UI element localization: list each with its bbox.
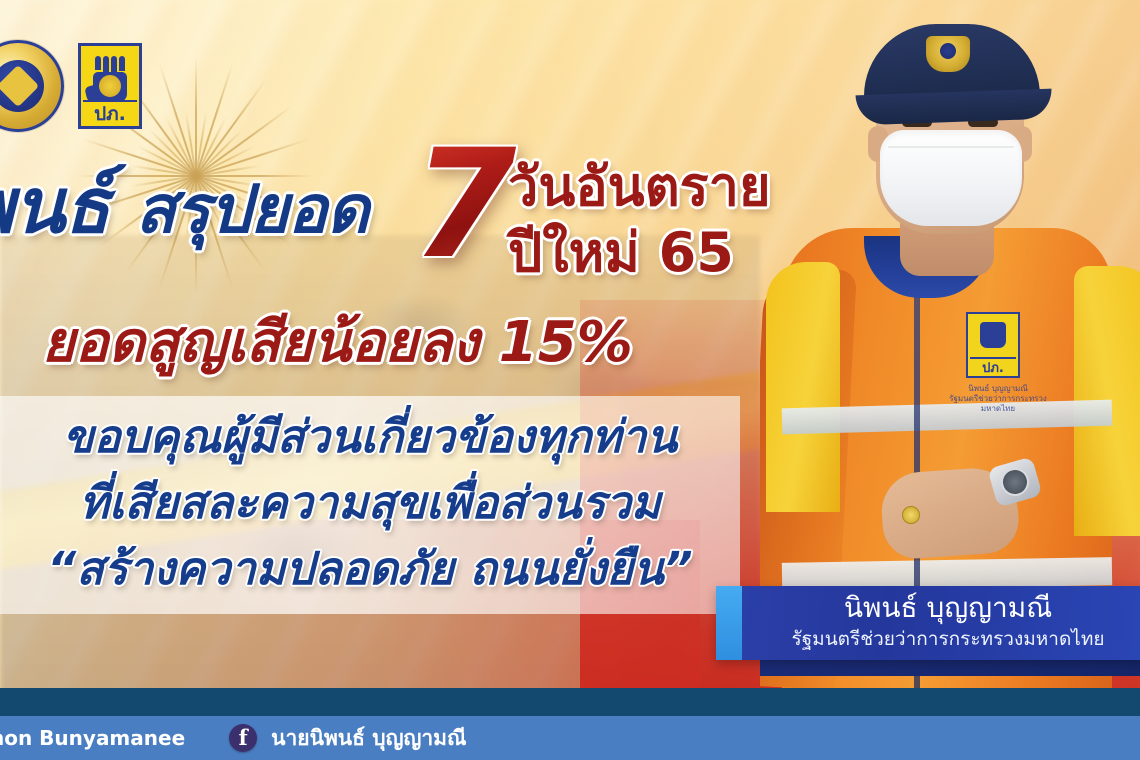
message-line-2: ที่เสียสละความสุขเพื่อส่วนรวม	[0, 470, 740, 536]
vest-dppm-logo: ปภ.	[966, 312, 1020, 378]
person-title: รัฐมนตรีช่วยว่าการกระทรวงมหาดไทย	[750, 626, 1140, 652]
wreath-emblem-icon	[98, 74, 122, 98]
cap-badge-icon	[926, 36, 970, 72]
person-ring	[902, 506, 920, 524]
name-banner-shadow	[760, 660, 1140, 676]
dppm-logo-label: ปภ.	[81, 103, 139, 125]
headline-loss-reduction: ยอดสูญเสียน้อยลง 15%	[42, 312, 633, 374]
facebook-glyph: f	[229, 724, 257, 752]
person-name: นิพนธ์ บุญญามณี	[750, 590, 1140, 626]
message-paragraph: ขอบคุณผู้มีส่วนเกี่ยวข้องทุกท่าน ที่เสีย…	[0, 404, 740, 602]
footer-blue-bar: non Bunyamanee f นายนิพนธ์ บุญญามณี	[0, 716, 1140, 760]
name-banner: นิพนธ์ บุญญามณี รัฐมนตรีช่วยว่าการกระทรว…	[716, 586, 1140, 660]
footer-english-handle: non Bunyamanee	[0, 726, 185, 750]
dppm-hand-logo: ปภ.	[78, 43, 142, 129]
message-line-3: “สร้างความปลอดภัย ถนนยั่งยืน”	[0, 536, 740, 602]
poster-root: ปภ. พนธ์ สรุปยอด 7 วันอันตราย ปีใหม่ 65 …	[0, 0, 1140, 760]
footer-navy-bar	[0, 688, 1140, 716]
facebook-icon[interactable]: f	[229, 724, 257, 752]
headline-new-year: ปีใหม่ 65	[508, 222, 734, 284]
person-face-mask	[880, 130, 1022, 226]
headline-summary-text: สรุปยอด	[135, 162, 368, 258]
message-line-1: ขอบคุณผู้มีส่วนเกี่ยวข้องทุกท่าน	[0, 404, 740, 470]
headline-big-number: 7	[412, 130, 516, 280]
headline-danger-days: วันอันตราย	[508, 156, 771, 218]
person-sleeve-left	[766, 262, 840, 512]
footer-facebook-page: นายนิพนธ์ บุญญามณี	[271, 722, 466, 755]
vest-embroidered-name: นิพนธ์ บุญญามณี รัฐมนตรีช่วยว่าการกระทรว…	[946, 384, 1050, 414]
government-seal-logo	[0, 40, 64, 132]
vest-name-line-2: รัฐมนตรีช่วยว่าการกระทรวงมหาดไทย	[946, 394, 1050, 414]
vest-name-line-1: นิพนธ์ บุญญามณี	[946, 384, 1050, 394]
vest-logo-label: ปภ.	[968, 361, 1018, 376]
name-banner-accent	[716, 586, 742, 660]
logo-group: ปภ.	[0, 40, 142, 132]
headline-name-text: พนธ์	[0, 158, 109, 254]
